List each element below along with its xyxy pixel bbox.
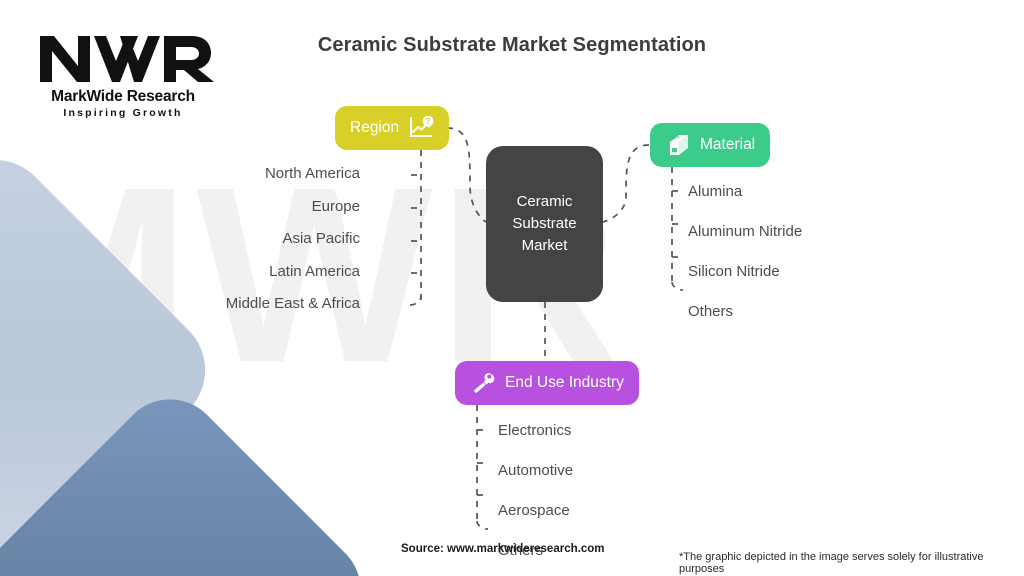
stub-region-4 bbox=[410, 296, 421, 305]
branch-badge-end-use-industry[interactable]: End Use Industry bbox=[455, 361, 639, 405]
list-item: Aluminum Nitride bbox=[688, 224, 802, 239]
central-market-label: Ceramic Substrate Market bbox=[512, 191, 576, 257]
list-item: Others bbox=[688, 304, 802, 319]
list-item: Alumina bbox=[688, 184, 802, 199]
branch-badge-material[interactable]: Material bbox=[650, 123, 770, 167]
list-item: North America bbox=[60, 166, 360, 181]
connector-region-center bbox=[447, 128, 486, 222]
branch-list-region: North America Europe Asia Pacific Latin … bbox=[60, 166, 360, 329]
stub-enduse-3 bbox=[477, 521, 488, 529]
list-item: Europe bbox=[60, 199, 360, 214]
infographic-canvas: MWR MarkWide Research Inspiring Growth C… bbox=[0, 0, 1024, 576]
list-item: Silicon Nitride bbox=[688, 264, 802, 279]
source-note: Source: www.markwideresearch.com bbox=[401, 543, 604, 555]
central-market-node: Ceramic Substrate Market bbox=[486, 146, 603, 302]
list-item: Middle East & Africa bbox=[60, 296, 360, 311]
list-item: Asia Pacific bbox=[60, 231, 360, 246]
branch-badge-region-label: Region bbox=[350, 119, 399, 137]
list-item: Aerospace bbox=[498, 503, 573, 518]
list-item: Electronics bbox=[498, 423, 573, 438]
branch-badge-end-use-industry-label: End Use Industry bbox=[505, 374, 624, 392]
chart-question-icon: ? bbox=[408, 116, 434, 140]
connector-material-center bbox=[603, 145, 649, 222]
svg-text:?: ? bbox=[426, 117, 431, 126]
stub-material-3 bbox=[672, 282, 683, 290]
list-item: Latin America bbox=[60, 264, 360, 279]
disclaimer-note: *The graphic depicted in the image serve… bbox=[679, 551, 1024, 575]
screwdriver-icon bbox=[470, 371, 496, 395]
branch-list-material: Alumina Aluminum Nitride Silicon Nitride… bbox=[688, 184, 802, 344]
branch-badge-material-label: Material bbox=[700, 136, 755, 154]
material-block-icon bbox=[665, 133, 691, 157]
branch-badge-region[interactable]: Region ? bbox=[335, 106, 449, 150]
list-item: Automotive bbox=[498, 463, 573, 478]
